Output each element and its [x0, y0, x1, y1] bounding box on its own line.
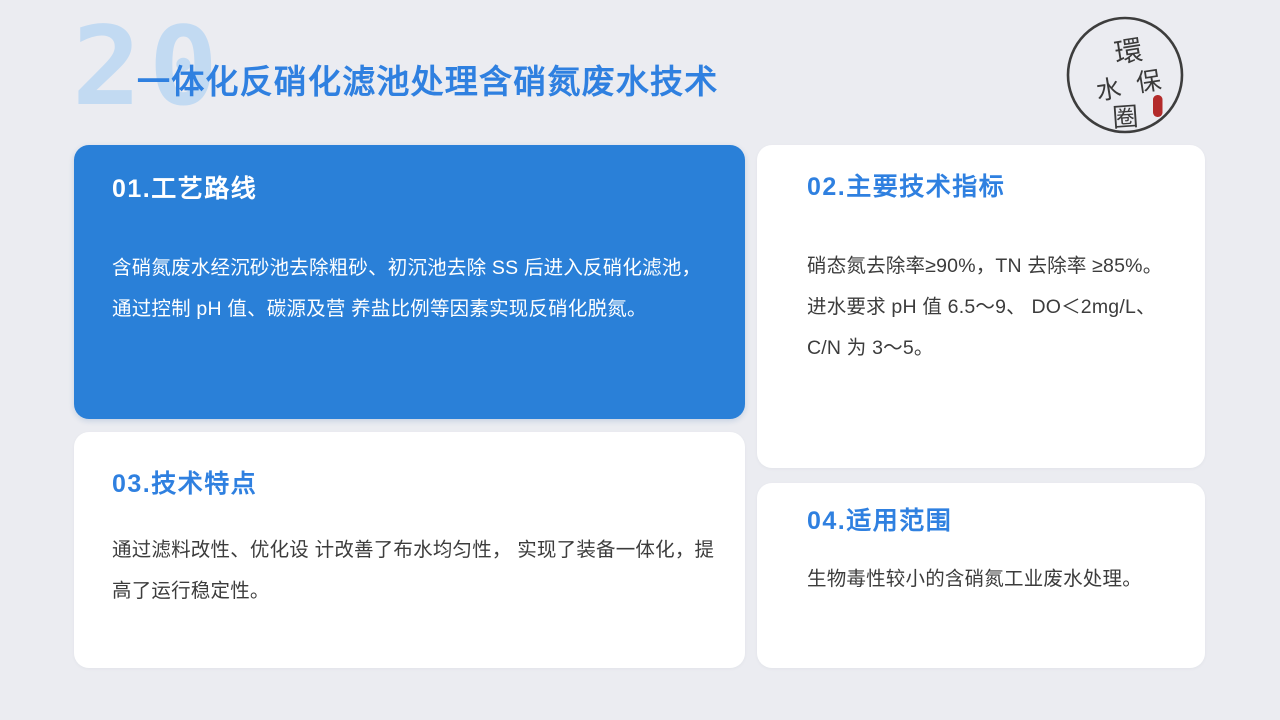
card-01-title: 01.工艺路线 [112, 177, 257, 202]
card-04-applicable-scope[interactable]: 04.适用范围 生物毒性较小的含硝氮工业废水处理。 [757, 483, 1205, 668]
svg-text:圈: 圈 [1111, 102, 1139, 134]
card-01-body: 含硝氮废水经沉砂池去除粗砂、初沉池去除 SS 后进入反硝化滤池，通过控制 pH … [112, 248, 717, 330]
card-03-body: 通过滤料改性、优化设 计改善了布水均匀性， 实现了装备一体化，提 高了运行稳定性… [112, 530, 722, 612]
card-04-title: 04.适用范围 [807, 509, 952, 534]
page-title: 一体化反硝化滤池处理含硝氮废水技术 [137, 65, 718, 98]
slide-header: 20 一体化反硝化滤池处理含硝氮废水技术 環 保 水 圈 [0, 0, 1280, 145]
card-01-process-route[interactable]: 01.工艺路线 含硝氮废水经沉砂池去除粗砂、初沉池去除 SS 后进入反硝化滤池，… [74, 145, 745, 419]
svg-text:保: 保 [1134, 65, 1163, 98]
huanbao-shuiquan-stamp-logo: 環 保 水 圈 [1064, 14, 1186, 136]
card-02-title: 02.主要技术指标 [807, 175, 1005, 200]
card-02-body: 硝态氮去除率≥90%，TN 去除率 ≥85%。进水要求 pH 值 6.5～9、 … [807, 246, 1167, 369]
card-03-title: 03.技术特点 [112, 472, 257, 497]
svg-text:環: 環 [1112, 33, 1145, 70]
svg-text:水: 水 [1094, 73, 1123, 106]
card-02-key-indicators[interactable]: 02.主要技术指标 硝态氮去除率≥90%，TN 去除率 ≥85%。进水要求 pH… [757, 145, 1205, 468]
card-03-technical-features[interactable]: 03.技术特点 通过滤料改性、优化设 计改善了布水均匀性， 实现了装备一体化，提… [74, 432, 745, 668]
card-04-body: 生物毒性较小的含硝氮工业废水处理。 [807, 559, 1177, 600]
